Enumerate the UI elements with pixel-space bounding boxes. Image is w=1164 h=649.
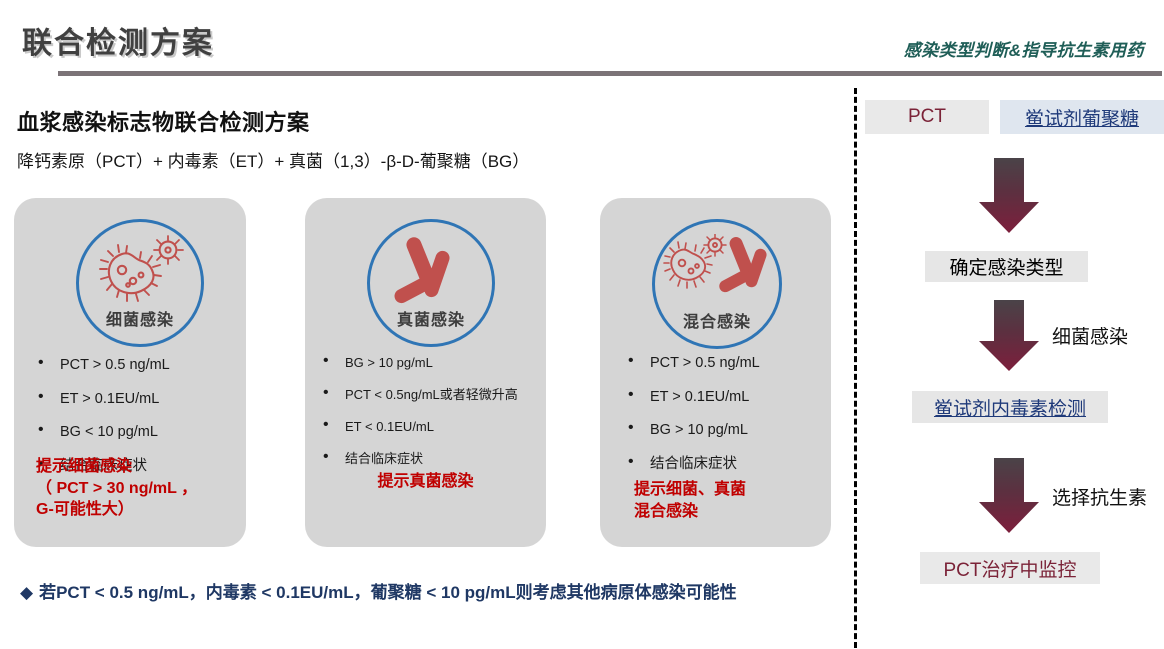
bacteria-icon <box>79 234 201 311</box>
flow-arrow-label-choose-antibiotic: 选择抗生素 <box>1052 483 1147 510</box>
infection-card-fungal: 真菌感染 BG > 10 pg/mL PCT < 0.5ng/mL或者轻微升高 … <box>305 198 546 547</box>
card-conclusion-mixed: 提示细菌、真菌 混合感染 <box>634 479 746 522</box>
bullet-item: BG < 10 pg/mL <box>34 425 236 440</box>
bullet-item: 结合临床症状 <box>319 452 536 465</box>
bullet-item: ET > 0.1EU/mL <box>624 390 821 405</box>
section-formula: 降钙素原（PCT）+ 内毒素（ET）+ 真菌（1,3）-β-D-葡聚糖（BG） <box>17 147 529 172</box>
card-bullets-fungal: BG > 10 pg/mL PCT < 0.5ng/mL或者轻微升高 ET < … <box>319 356 536 484</box>
bullet-item: PCT > 0.5 ng/mL <box>624 356 821 371</box>
flow-box-glucan-reagent-label: 鲎试剂葡聚糖 <box>1025 104 1139 131</box>
card-conclusion-fungal: 提示真菌感染 <box>305 471 546 493</box>
flow-box-endotoxin-test-label: 鲎试剂内毒素检测 <box>934 394 1086 421</box>
flow-arrow-down-3 <box>978 458 1040 534</box>
slide-root: 联合检测方案 感染类型判断&指导抗生素用药 血浆感染标志物联合检测方案 降钙素原… <box>0 0 1164 649</box>
card-bullets-mixed: PCT > 0.5 ng/mL ET > 0.1EU/mL BG > 10 pg… <box>624 356 821 490</box>
bullet-item: 结合临床症状 <box>624 457 821 472</box>
flow-box-pct[interactable]: PCT <box>865 100 989 134</box>
bullet-item: BG > 10 pg/mL <box>319 356 536 369</box>
card-circle-fungal: 真菌感染 <box>367 219 495 347</box>
bullet-item: BG > 10 pg/mL <box>624 423 821 438</box>
flow-box-determine-infection-type[interactable]: 确定感染类型 <box>925 251 1088 282</box>
bullet-item: ET < 0.1EU/mL <box>319 420 536 433</box>
infection-card-bacterial: 细菌感染 PCT > 0.5 ng/mL ET > 0.1EU/mL BG < … <box>14 198 246 547</box>
infection-card-mixed: 混合感染 PCT > 0.5 ng/mL ET > 0.1EU/mL BG > … <box>600 198 831 547</box>
card-label-fungal: 真菌感染 <box>370 306 492 330</box>
card-label-mixed: 混合感染 <box>655 308 779 332</box>
flow-box-glucan-reagent[interactable]: 鲎试剂葡聚糖 <box>1000 100 1164 134</box>
flow-arrow-down-1 <box>978 158 1040 234</box>
footer-note-text: 若PCT < 0.5 ng/mL，内毒素 < 0.1EU/mL，葡聚糖 < 10… <box>39 583 737 602</box>
section-heading: 血浆感染标志物联合检测方案 <box>17 105 310 137</box>
header-divider-rule <box>58 71 1162 76</box>
bullet-item: PCT > 0.5 ng/mL <box>34 358 236 373</box>
card-conclusion-bacterial: 提示细菌感染 （ PCT > 30 ng/mL ， G-可能性大） <box>36 456 197 521</box>
page-title: 联合检测方案 <box>22 18 214 62</box>
flow-box-pct-treatment-monitoring[interactable]: PCT治疗中监控 <box>920 552 1100 584</box>
bullet-item: ET > 0.1EU/mL <box>34 392 236 407</box>
card-circle-mixed: 混合感染 <box>652 219 782 349</box>
mixed-infection-icon <box>655 234 779 305</box>
bullet-item: PCT < 0.5ng/mL或者轻微升高 <box>319 388 536 401</box>
diamond-bullet-icon: ◆ <box>20 583 33 602</box>
card-label-bacterial: 细菌感染 <box>79 306 201 330</box>
flow-box-endotoxin-test[interactable]: 鲎试剂内毒素检测 <box>912 391 1108 423</box>
footer-note: ◆若PCT < 0.5 ng/mL，内毒素 < 0.1EU/mL，葡聚糖 < 1… <box>20 578 830 608</box>
fungus-icon <box>370 234 492 311</box>
flow-arrow-down-2 <box>978 300 1040 372</box>
header-subtitle: 感染类型判断&指导抗生素用药 <box>904 36 1144 61</box>
vertical-dashed-divider <box>854 88 857 648</box>
card-circle-bacterial: 细菌感染 <box>76 219 204 347</box>
flow-arrow-label-bacterial-infection: 细菌感染 <box>1052 322 1128 349</box>
